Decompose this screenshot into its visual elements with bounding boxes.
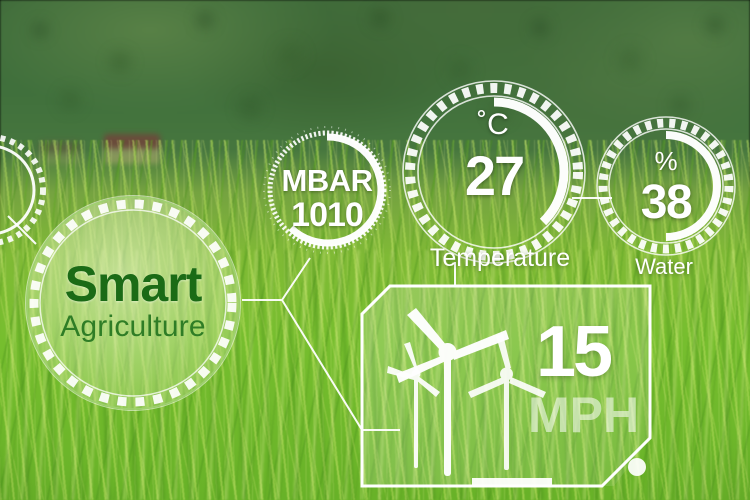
wind-speed-unit: MPH [528, 390, 668, 440]
hud-overlay: Smart Agriculture MBAR 1010 [0, 0, 750, 500]
wind-panel-accent-bar [472, 478, 552, 485]
smart-agriculture-hud-scene: Smart Agriculture MBAR 1010 [0, 0, 750, 500]
indicator-dot-icon [628, 458, 646, 476]
wind-turbine-icon [396, 308, 509, 476]
wind-speed-value: 15 [536, 316, 666, 388]
